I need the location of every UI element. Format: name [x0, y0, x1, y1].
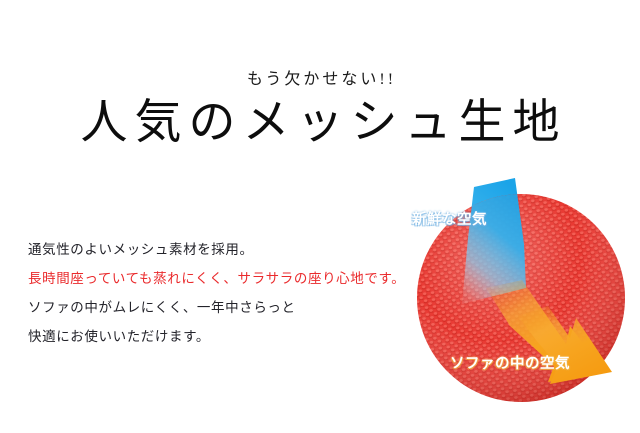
- body-line-2-accent: 長時間座っていても蒸れにくく、サラサラの座り心地です。: [28, 264, 408, 293]
- promo-banner: もう欠かせない!! 人気のメッシュ生地 通気性のよいメッシュ素材を採用。 長時間…: [0, 0, 640, 433]
- body-copy: 通気性のよいメッシュ素材を採用。 長時間座っていても蒸れにくく、サラサラの座り心…: [28, 235, 408, 351]
- body-line-1: 通気性のよいメッシュ素材を採用。: [28, 235, 408, 264]
- mesh-airflow-figure: 新鮮な空気 ソファの中の空気: [398, 176, 640, 408]
- page-title: 人気のメッシュ生地: [0, 94, 640, 152]
- body-line-3: ソファの中がムレにくく、一年中さらっと: [28, 293, 408, 322]
- headline-kicker: もう欠かせない!!: [0, 70, 640, 90]
- headline-block: もう欠かせない!! 人気のメッシュ生地: [0, 70, 640, 152]
- fresh-air-label: 新鮮な空気: [412, 213, 487, 228]
- body-line-4: 快適にお使いいただけます。: [28, 322, 408, 351]
- inside-air-label: ソファの中の空気: [450, 357, 570, 372]
